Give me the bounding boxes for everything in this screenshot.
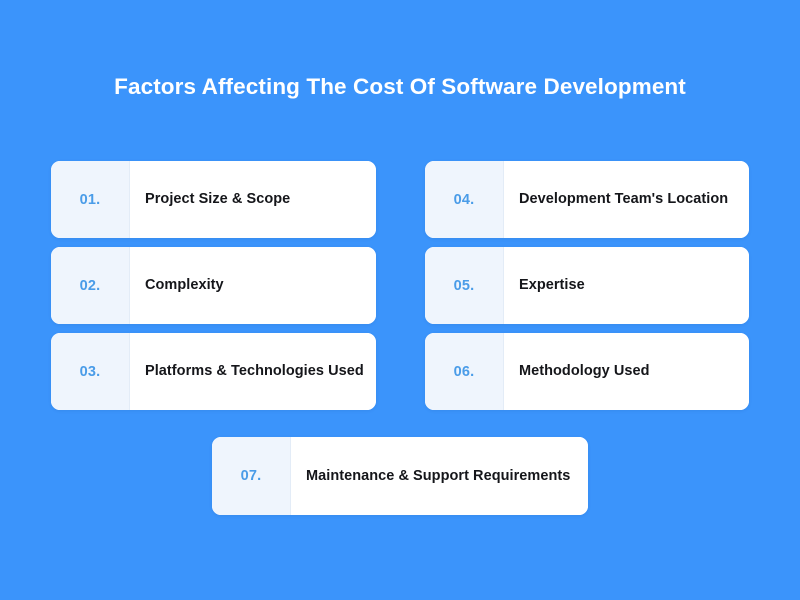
factor-number-06: 06. (454, 364, 475, 380)
factor-label-05: Expertise (519, 276, 585, 295)
factor-label-panel-07: Maintenance & Support Requirements (291, 437, 588, 515)
factor-label-03: Platforms & Technologies Used (145, 362, 364, 381)
factor-number-01: 01. (80, 192, 101, 208)
factor-card-06[interactable]: 06. Methodology Used (425, 333, 749, 410)
factor-number-05: 05. (454, 278, 475, 294)
factor-label-panel-04: Development Team's Location (504, 161, 749, 238)
factor-number-panel-02: 02. (51, 247, 130, 324)
factor-number-panel-07: 07. (212, 437, 291, 515)
factor-label-07: Maintenance & Support Requirements (306, 467, 570, 486)
factor-label-01: Project Size & Scope (145, 190, 290, 209)
factor-number-07: 07. (241, 468, 262, 484)
infographic-slide: Factors Affecting The Cost Of Software D… (0, 0, 800, 600)
factor-number-panel-03: 03. (51, 333, 130, 410)
factor-label-04: Development Team's Location (519, 190, 728, 209)
factor-number-04: 04. (454, 192, 475, 208)
factor-number-panel-05: 05. (425, 247, 504, 324)
factor-label-panel-05: Expertise (504, 247, 749, 324)
page-title: Factors Affecting The Cost Of Software D… (0, 70, 800, 104)
factor-card-05[interactable]: 05. Expertise (425, 247, 749, 324)
factor-label-02: Complexity (145, 276, 224, 295)
factor-card-03[interactable]: 03. Platforms & Technologies Used (51, 333, 376, 410)
factor-card-04[interactable]: 04. Development Team's Location (425, 161, 749, 238)
factor-label-panel-03: Platforms & Technologies Used (130, 333, 376, 410)
factor-label-panel-01: Project Size & Scope (130, 161, 376, 238)
factor-label-panel-06: Methodology Used (504, 333, 749, 410)
factor-card-02[interactable]: 02. Complexity (51, 247, 376, 324)
factor-number-02: 02. (80, 278, 101, 294)
factor-number-panel-04: 04. (425, 161, 504, 238)
factor-number-panel-01: 01. (51, 161, 130, 238)
factor-label-06: Methodology Used (519, 362, 650, 381)
factor-number-03: 03. (80, 364, 101, 380)
factor-number-panel-06: 06. (425, 333, 504, 410)
factor-card-01[interactable]: 01. Project Size & Scope (51, 161, 376, 238)
factor-card-07[interactable]: 07. Maintenance & Support Requirements (212, 437, 588, 515)
factor-label-panel-02: Complexity (130, 247, 376, 324)
